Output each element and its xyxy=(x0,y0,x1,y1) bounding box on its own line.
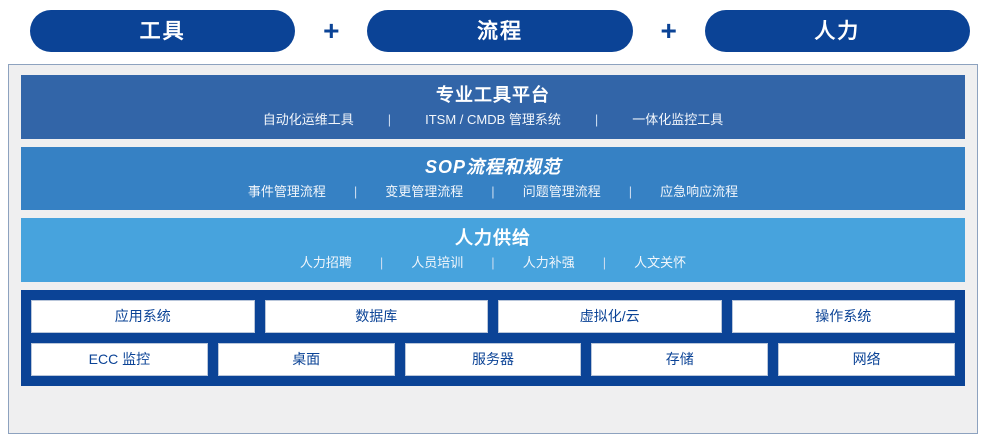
chip-network-label: 网络 xyxy=(853,352,881,366)
layer-sop-title: SOP流程和规范 xyxy=(21,154,965,180)
layer-tools-subitems: 自动化运维工具 | ITSM / CMDB 管理系统 | 一体化监控工具 xyxy=(21,110,965,130)
layer-sop-sep-1: | xyxy=(348,182,363,202)
layer-sop-subitem-4[interactable]: 应急响应流程 xyxy=(660,182,738,202)
chip-database-label: 数据库 xyxy=(355,309,397,323)
chip-server[interactable]: 服务器 xyxy=(405,343,582,376)
chip-virtualization-cloud[interactable]: 虚拟化/云 xyxy=(498,300,722,333)
plus-separator-1: + xyxy=(295,17,367,45)
layer-manpower[interactable]: 人力供给 人力招聘 | 人员培训 | 人力补强 | 人文关怀 xyxy=(21,218,965,282)
chip-application-system[interactable]: 应用系统 xyxy=(31,300,255,333)
layer-manpower-sep-3: | xyxy=(597,253,612,273)
chip-virtualization-cloud-label: 虚拟化/云 xyxy=(580,309,640,323)
chip-network[interactable]: 网络 xyxy=(778,343,955,376)
layer-manpower-sep-1: | xyxy=(374,253,389,273)
chip-server-label: 服务器 xyxy=(472,352,514,366)
layer-sop-sep-3: | xyxy=(623,182,638,202)
top-pill-row: 工具 + 流程 + 人力 xyxy=(0,0,1000,62)
layer-manpower-subitem-1[interactable]: 人力招聘 xyxy=(300,253,352,273)
layer-manpower-subitems: 人力招聘 | 人员培训 | 人力补强 | 人文关怀 xyxy=(21,253,965,273)
pill-manpower-label: 人力 xyxy=(814,21,860,42)
pill-tools[interactable]: 工具 xyxy=(30,10,295,52)
layer-sop-subitems: 事件管理流程 | 变更管理流程 | 问题管理流程 | 应急响应流程 xyxy=(21,182,965,202)
capability-diagram: 工具 + 流程 + 人力 专业工具平台 自动化运维工具 | ITSM / CMD… xyxy=(0,0,1000,442)
layer-tools-sep-1: | xyxy=(382,110,397,130)
chip-storage-label: 存储 xyxy=(666,352,694,366)
layer-sop-subitem-1[interactable]: 事件管理流程 xyxy=(248,182,326,202)
chip-desktop[interactable]: 桌面 xyxy=(218,343,395,376)
chip-operating-system-label: 操作系统 xyxy=(815,309,871,323)
chip-ecc-monitoring-label: ECC 监控 xyxy=(89,352,150,366)
chip-database[interactable]: 数据库 xyxy=(265,300,489,333)
layer-tools-subitem-2[interactable]: ITSM / CMDB 管理系统 xyxy=(425,110,561,130)
managed-objects-box: 应用系统 数据库 虚拟化/云 操作系统 ECC 监控 桌面 xyxy=(21,290,965,386)
layer-tools-subitem-1[interactable]: 自动化运维工具 xyxy=(263,110,354,130)
layer-sop-subitem-2[interactable]: 变更管理流程 xyxy=(385,182,463,202)
layer-tools-title: 专业工具平台 xyxy=(21,82,965,108)
capability-panel: 专业工具平台 自动化运维工具 | ITSM / CMDB 管理系统 | 一体化监… xyxy=(8,64,978,434)
pill-process[interactable]: 流程 xyxy=(367,10,632,52)
managed-objects-row-2: ECC 监控 桌面 服务器 存储 网络 xyxy=(31,343,955,376)
layer-manpower-subitem-4[interactable]: 人文关怀 xyxy=(634,253,686,273)
layer-sop-subitem-3[interactable]: 问题管理流程 xyxy=(523,182,601,202)
chip-operating-system[interactable]: 操作系统 xyxy=(732,300,956,333)
managed-objects-row-1: 应用系统 数据库 虚拟化/云 操作系统 xyxy=(31,300,955,333)
pill-tools-label: 工具 xyxy=(140,21,186,42)
pill-manpower[interactable]: 人力 xyxy=(705,10,970,52)
layer-tools-subitem-3[interactable]: 一体化监控工具 xyxy=(632,110,723,130)
layer-manpower-title: 人力供给 xyxy=(21,225,965,251)
layer-tools[interactable]: 专业工具平台 自动化运维工具 | ITSM / CMDB 管理系统 | 一体化监… xyxy=(21,75,965,139)
chip-storage[interactable]: 存储 xyxy=(591,343,768,376)
layer-sop-sep-2: | xyxy=(485,182,500,202)
chip-desktop-label: 桌面 xyxy=(292,352,320,366)
pill-process-label: 流程 xyxy=(477,21,523,42)
layer-sop[interactable]: SOP流程和规范 事件管理流程 | 变更管理流程 | 问题管理流程 | 应急响应… xyxy=(21,147,965,211)
layer-manpower-sep-2: | xyxy=(485,253,500,273)
chip-ecc-monitoring[interactable]: ECC 监控 xyxy=(31,343,208,376)
layer-manpower-subitem-2[interactable]: 人员培训 xyxy=(411,253,463,273)
layer-manpower-subitem-3[interactable]: 人力补强 xyxy=(523,253,575,273)
layer-tools-sep-2: | xyxy=(589,110,604,130)
chip-application-system-label: 应用系统 xyxy=(115,309,171,323)
plus-separator-2: + xyxy=(633,17,705,45)
